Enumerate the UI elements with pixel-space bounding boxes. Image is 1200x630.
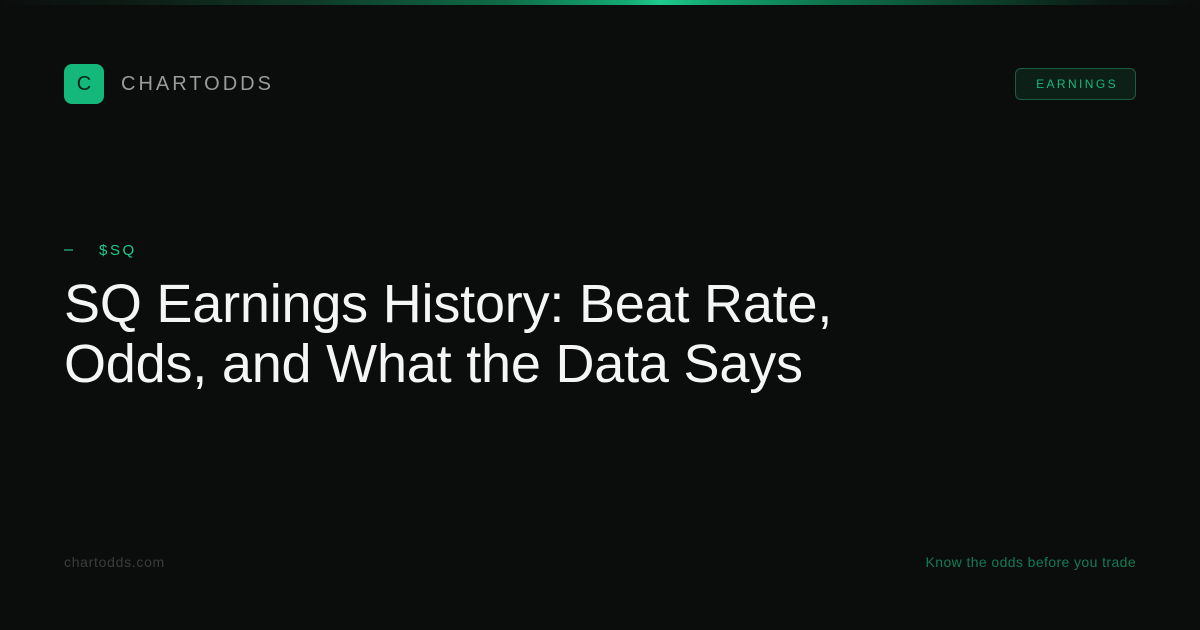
category-badge-earnings[interactable]: EARNINGS (1015, 68, 1136, 100)
main-content: $SQ SQ Earnings History: Beat Rate, Odds… (64, 240, 964, 395)
brand-name-wordmark: CHARTODDS (121, 73, 274, 96)
page-footer: chartodds.com Know the odds before you t… (64, 552, 1136, 572)
top-gradient-bar (0, 0, 1200, 5)
brand-lockup[interactable]: C CHARTODDS (64, 64, 274, 104)
eyebrow-row: $SQ (64, 240, 964, 260)
ticker-symbol: $SQ (99, 242, 137, 259)
page-header: C CHARTODDS EARNINGS (64, 64, 1136, 104)
dash-icon (64, 249, 73, 251)
chartodds-logo-icon: C (64, 64, 104, 104)
footer-site-url: chartodds.com (64, 554, 165, 570)
footer-tagline: Know the odds before you trade (926, 554, 1136, 570)
page-title: SQ Earnings History: Beat Rate, Odds, an… (64, 274, 894, 395)
